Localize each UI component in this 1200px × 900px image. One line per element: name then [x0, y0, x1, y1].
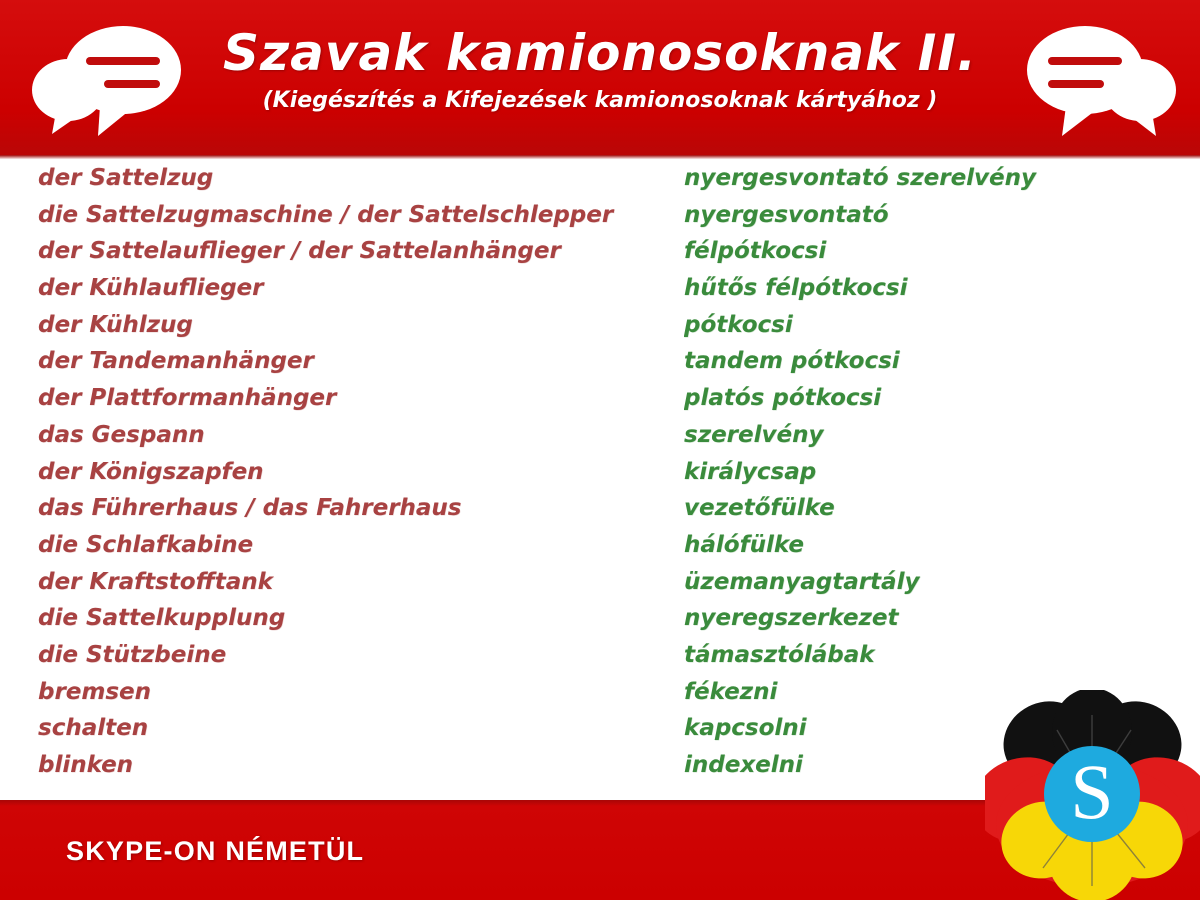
list-item: nyergesvontató — [684, 197, 1164, 234]
german-column: der Sattelzug die Sattelzugmaschine / de… — [38, 160, 658, 784]
list-item: szerelvény — [684, 417, 1164, 454]
list-item: die Stützbeine — [38, 637, 658, 674]
list-item: der Kühlzug — [38, 307, 658, 344]
skype-letter: S — [1070, 748, 1113, 835]
list-item: schalten — [38, 710, 658, 747]
list-item: der Sattelzug — [38, 160, 658, 197]
list-item: blinken — [38, 747, 658, 784]
list-item: támasztólábak — [684, 637, 1164, 674]
list-item: hűtős félpótkocsi — [684, 270, 1164, 307]
list-item: pótkocsi — [684, 307, 1164, 344]
speech-bubbles-icon — [1006, 18, 1186, 140]
header-divider — [0, 155, 1200, 159]
page-title: Szavak kamionosoknak II. — [190, 24, 1010, 82]
list-item: der Tandemanhänger — [38, 343, 658, 380]
page-subtitle: (Kiegészítés a Kifejezések kamionosoknak… — [190, 86, 1010, 116]
title-block: Szavak kamionosoknak II. (Kiegészítés a … — [190, 24, 1010, 116]
list-item: der Kühlauflieger — [38, 270, 658, 307]
list-item: üzemanyagtartály — [684, 564, 1164, 601]
speech-bubbles-icon — [22, 18, 202, 140]
list-item: bremsen — [38, 674, 658, 711]
list-item: der Plattformanhänger — [38, 380, 658, 417]
list-item: királycsap — [684, 454, 1164, 491]
vocabulary-card: Szavak kamionosoknak II. (Kiegészítés a … — [0, 0, 1200, 900]
list-item: hálófülke — [684, 527, 1164, 564]
list-item: die Sattelzugmaschine / der Sattelschlep… — [38, 197, 658, 234]
list-item: die Sattelkupplung — [38, 600, 658, 637]
list-item: nyergesvontató szerelvény — [684, 160, 1164, 197]
list-item: das Gespann — [38, 417, 658, 454]
list-item: nyeregszerkezet — [684, 600, 1164, 637]
list-item: félpótkocsi — [684, 233, 1164, 270]
list-item: vezetőfülke — [684, 490, 1164, 527]
header-banner: Szavak kamionosoknak II. (Kiegészítés a … — [0, 0, 1200, 158]
list-item: der Sattelauflieger / der Sattelanhänger — [38, 233, 658, 270]
list-item: der Kraftstofftank — [38, 564, 658, 601]
list-item: das Führerhaus / das Fahrerhaus — [38, 490, 658, 527]
list-item: tandem pótkocsi — [684, 343, 1164, 380]
list-item: die Schlafkabine — [38, 527, 658, 564]
list-item: der Königszapfen — [38, 454, 658, 491]
brand-name: SKYPE-ON NÉMETÜL — [66, 836, 364, 867]
skype-german-flower-logo: S — [985, 690, 1200, 900]
list-item: platós pótkocsi — [684, 380, 1164, 417]
